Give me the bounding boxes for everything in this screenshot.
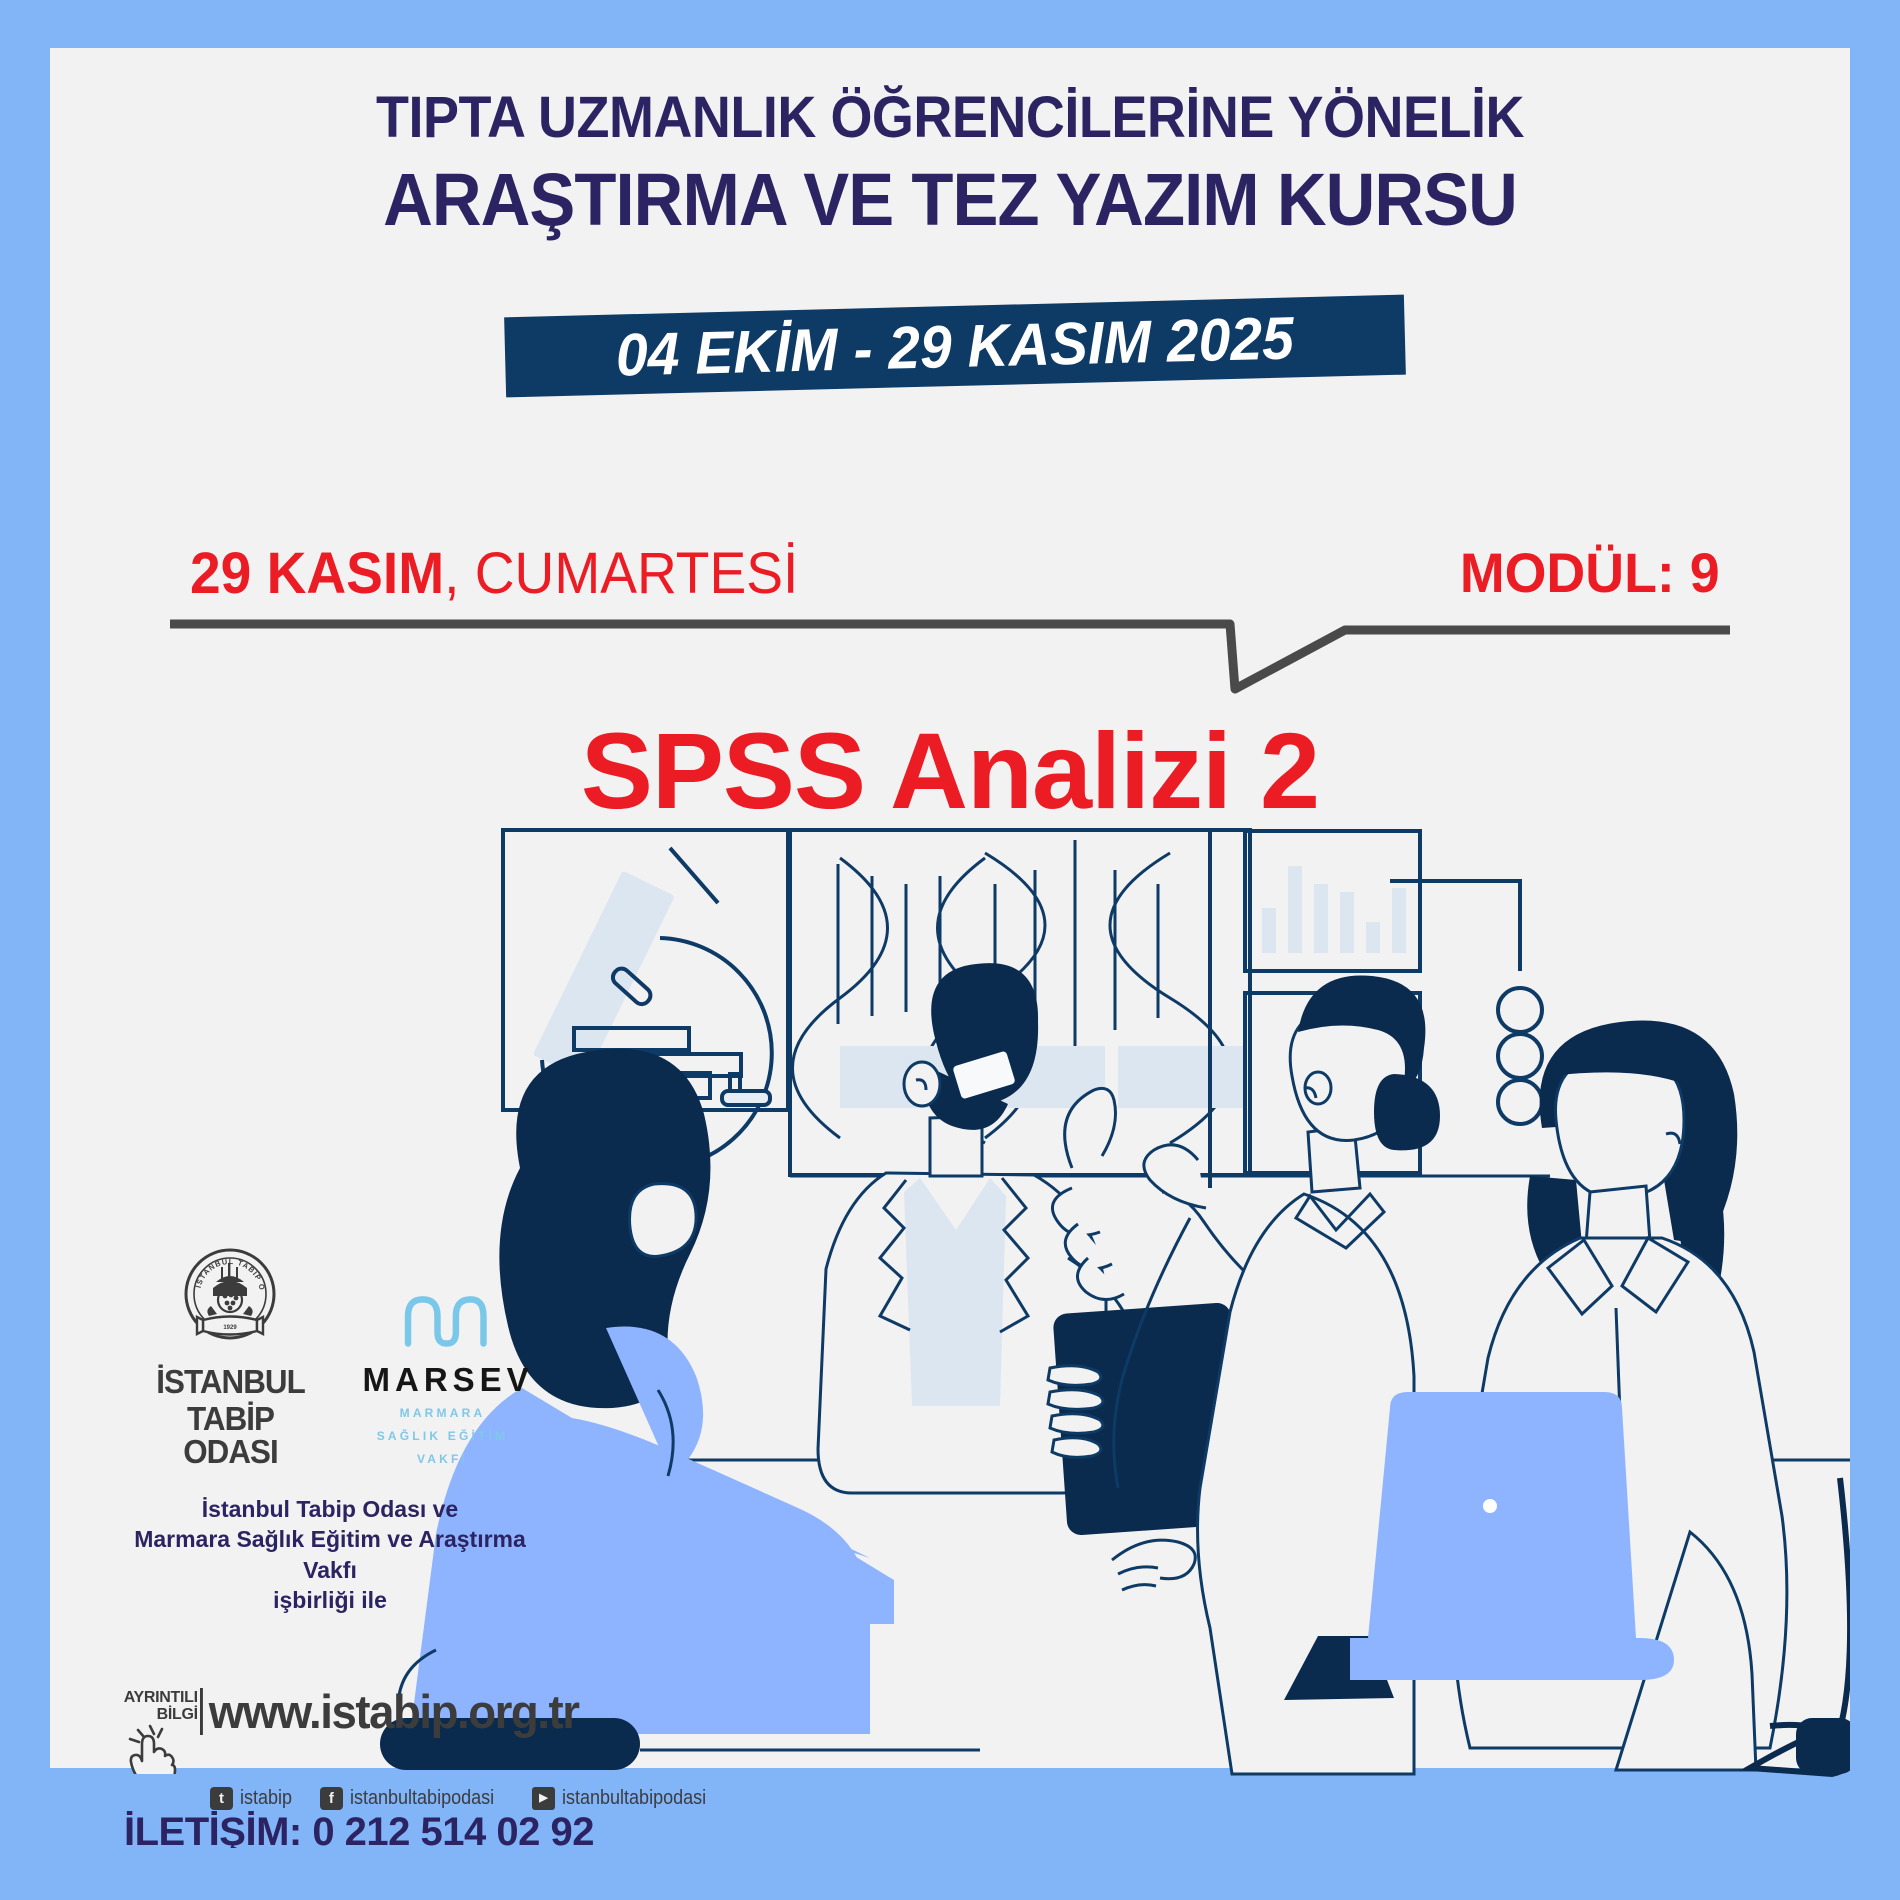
chair-edge-curve (1836, 1478, 1850, 1742)
collab-line-3: işbirliği ile (110, 1585, 550, 1615)
bar-chart-panel (1245, 831, 1420, 971)
twitter-handle: istabip (240, 1787, 292, 1810)
ito-emblem-icon: İSTANBUL TABİP ODASI (175, 1244, 285, 1356)
divider-line (170, 616, 1730, 706)
date-range-ribbon: 04 EKİM - 29 KASIM 2025 (504, 295, 1406, 398)
footer-web-block: AYRINTILI BİLGİ www.istabip.org.tr t ist… (120, 1688, 590, 1810)
marsev-sub-line-1: MARMARA (363, 1404, 523, 1422)
session-day-rest: , CUMARTESİ (444, 541, 798, 606)
session-day-bold: 29 KASIM (190, 541, 444, 606)
website-url[interactable]: www.istabip.org.tr (200, 1688, 579, 1735)
header-line-1: TIPTA UZMANLIK ÖĞRENCİLERİNE YÖNELİK (113, 84, 1787, 151)
detailed-info-label: AYRINTILI BİLGİ (120, 1690, 198, 1779)
marsev-sub-line-2: SAĞLIK EĞİTİM (363, 1427, 523, 1445)
ito-name-line-2: TABİP ODASI (142, 1402, 318, 1468)
collab-line-1: İstanbul Tabip Odası ve (110, 1494, 550, 1524)
ayrintili-line-1: AYRINTILI (120, 1690, 198, 1707)
ito-name-line-1: İSTANBUL (142, 1365, 318, 1398)
marsev-wordmark: MARSEV (363, 1361, 523, 1399)
header-line-2: ARAŞTIRMA VE TEZ YAZIM KURSU (113, 157, 1787, 242)
marsev-mark-icon (397, 1292, 489, 1354)
session-meta-row: 29 KASIM, CUMARTESİ MODÜL: 9 (50, 540, 1850, 660)
session-day: 29 KASIM, CUMARTESİ (190, 540, 798, 607)
social-links: t istabip f istanbultabipodasi ▶ istanbu… (210, 1787, 590, 1810)
module-badge: MODÜL: 9 (1460, 540, 1720, 605)
date-range-text: 04 EKİM - 29 KASIM 2025 (615, 303, 1294, 389)
istanbul-tabip-odasi-logo: İSTANBUL TABİP ODASI (138, 1244, 323, 1468)
facebook-icon: f (320, 1787, 343, 1810)
collab-line-2: Marmara Sağlık Eğitim ve Araştırma Vakfı (110, 1524, 550, 1585)
facebook-handle: istanbultabipodasi (350, 1787, 494, 1810)
pointing-hand-cursor-icon (120, 1722, 178, 1774)
social-twitter[interactable]: t istabip (210, 1787, 298, 1810)
partner-logos: İSTANBUL TABİP ODASI (110, 1278, 550, 1615)
collaboration-note: İstanbul Tabip Odası ve Marmara Sağlık E… (110, 1494, 550, 1615)
contact-phone: İLETİŞİM: 0 212 514 02 92 (124, 1810, 594, 1848)
marsev-logo: MARSEV MARMARA SAĞLIK EĞİTİM VAKFI (363, 1292, 523, 1468)
poster-canvas: TIPTA UZMANLIK ÖĞRENCİLERİNE YÖNELİK ARA… (50, 48, 1850, 1848)
twitter-icon: t (210, 1787, 233, 1810)
marsev-sub-line-3: VAKFI (363, 1450, 523, 1468)
poster-header: TIPTA UZMANLIK ÖĞRENCİLERİNE YÖNELİK ARA… (50, 48, 1850, 242)
ito-emblem-year: 1929 (223, 1325, 237, 1331)
youtube-handle: istanbultabipodasi (562, 1787, 706, 1810)
social-facebook[interactable]: f istanbultabipodasi (320, 1787, 510, 1810)
social-youtube[interactable]: ▶ istanbultabipodasi (532, 1787, 722, 1810)
youtube-icon: ▶ (532, 1787, 555, 1810)
